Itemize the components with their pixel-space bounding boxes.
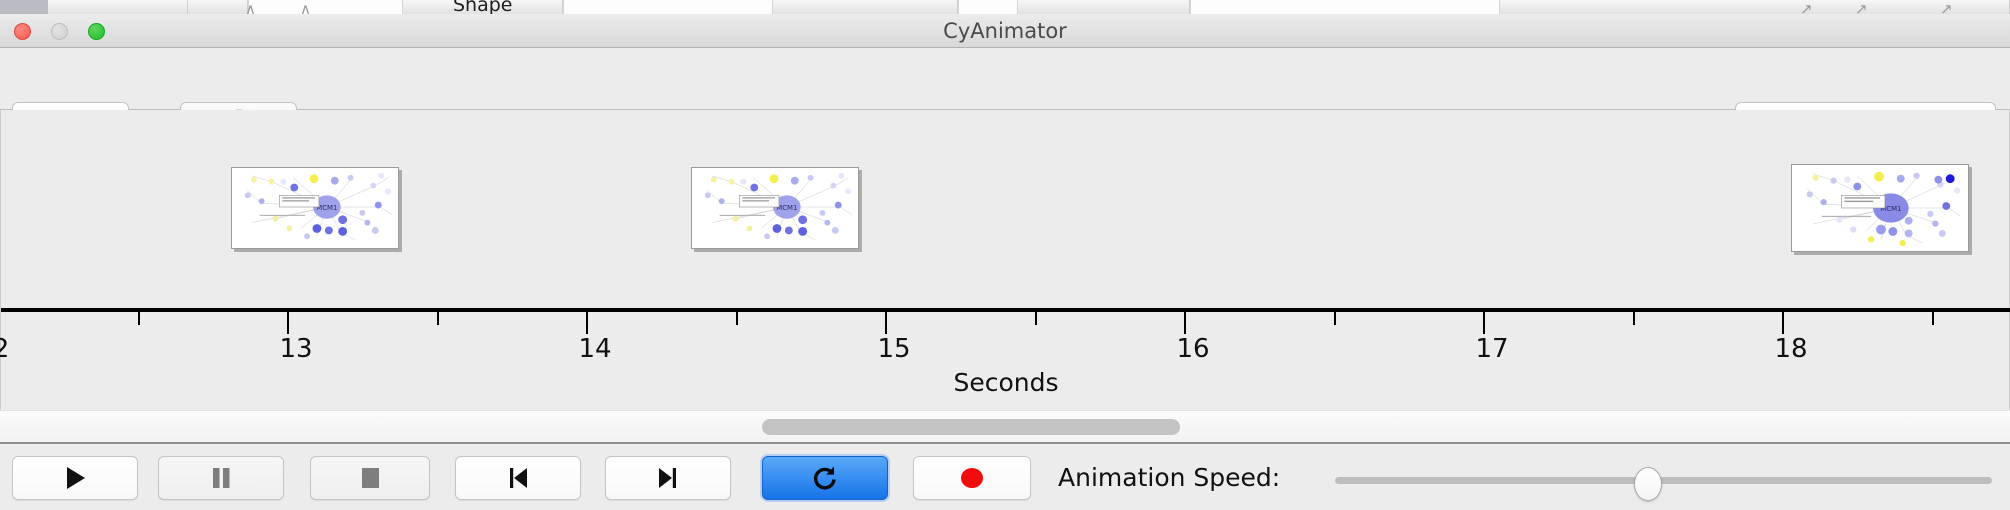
background-window-strip: Shape ∧ ∧ ↗ ↗ ↗ [0,0,2010,14]
axis-minor-tick [1932,312,1934,325]
loop-button[interactable] [762,456,888,500]
animation-speed-slider-track[interactable] [1335,477,1992,484]
frame-thumbnail[interactable]: MCM1 [691,167,859,249]
axis-title: Seconds [1,368,2010,397]
toolbar: ✚ Clear All Frames [0,48,2010,110]
animation-speed-label: Animation Speed: [1058,456,1280,500]
timeline-panel[interactable]: MCM1 [0,110,2010,410]
frame-thumbnail[interactable]: MCM1 [1791,164,1969,252]
record-button[interactable] [913,456,1031,500]
axis-minor-tick [1633,312,1635,325]
background-window-label: Shape [453,0,513,14]
stop-icon [357,464,383,492]
axis-minor-tick [437,312,439,325]
network-graph-image: MCM1 [1792,165,1968,251]
bg-arrow-icon-3: ↗ [1800,0,1813,14]
axis-tick-label: 17 [1475,334,1508,364]
pause-icon [208,464,234,492]
network-graph-image: MCM1 [692,168,858,248]
axis-tick-label: 2 [0,334,9,364]
axis-tick-label: 15 [877,334,910,364]
skip-to-end-button[interactable] [605,456,731,500]
skip-end-icon [655,464,681,492]
bg-arrow-icon-4: ↗ [1855,0,1868,14]
axis-major-tick [586,312,588,334]
axis-tick-label: 16 [1176,334,1209,364]
axis-major-tick [1483,312,1485,334]
title-bar[interactable]: CyAnimator [0,14,2010,48]
network-graph-image: MCM1 [232,168,398,248]
axis-minor-tick [1035,312,1037,325]
axis-minor-tick [736,312,738,325]
play-button[interactable] [12,456,138,500]
bg-arrow-icon-1: ∧ [245,0,256,14]
svg-text:MCM1: MCM1 [316,204,337,212]
loop-icon [810,463,840,493]
axis-minor-tick [1334,312,1336,325]
timeline-axis [1,308,2010,312]
frame-thumbnail[interactable]: MCM1 [231,167,399,249]
axis-major-tick [1184,312,1186,334]
svg-text:MCM1: MCM1 [776,204,797,212]
axis-major-tick [885,312,887,334]
skip-start-icon [505,464,531,492]
axis-tick-label: 18 [1774,334,1807,364]
stop-button[interactable] [310,456,430,500]
bg-arrow-icon-5: ↗ [1940,0,1953,14]
axis-major-tick [1782,312,1784,334]
record-icon [958,464,986,492]
axis-tick-label: 14 [578,334,611,364]
timeline-scrollbar-track[interactable] [0,410,2010,444]
pause-button[interactable] [158,456,284,500]
timeline-scrollbar-thumb[interactable] [762,419,1180,435]
axis-tick-label: 13 [279,334,312,364]
play-icon [62,464,88,492]
axis-minor-tick [138,312,140,325]
window-title: CyAnimator [0,14,2010,48]
animation-speed-slider-thumb[interactable] [1634,467,1662,501]
bg-arrow-icon-2: ∧ [300,0,311,14]
cyanimator-window: Shape ∧ ∧ ↗ ↗ ↗ CyAnimator ✚ Clear All F… [0,0,2010,510]
axis-major-tick [287,312,289,334]
skip-to-start-button[interactable] [455,456,581,500]
